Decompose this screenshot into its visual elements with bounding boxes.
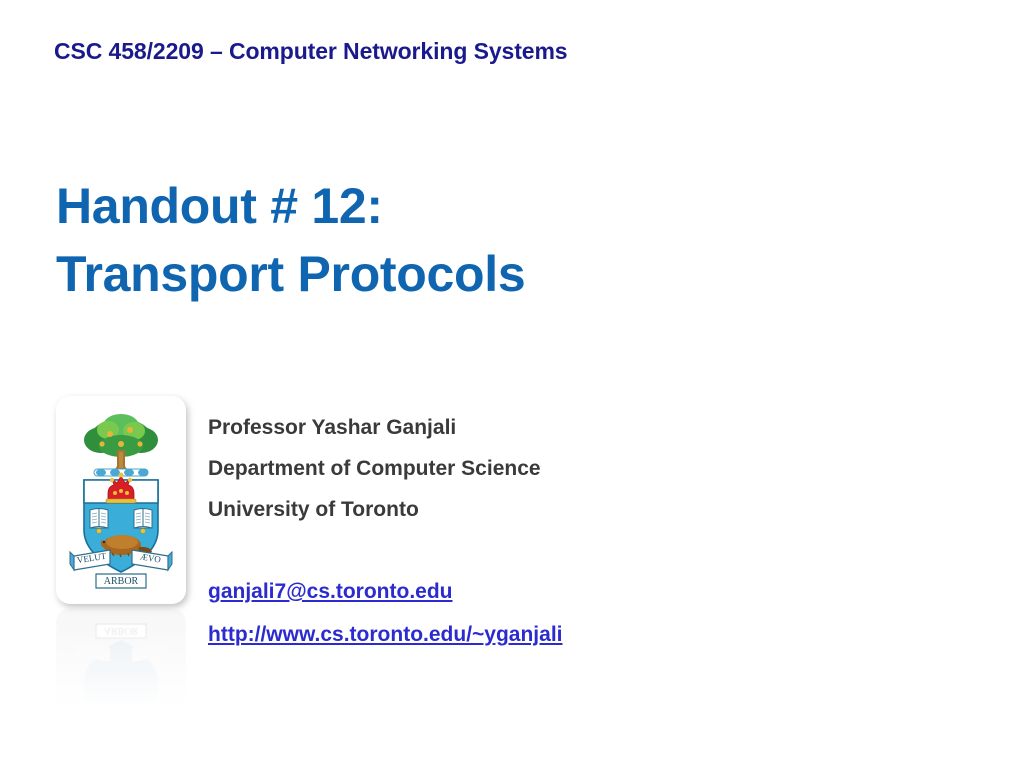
author-name: Professor Yashar Ganjali xyxy=(208,407,768,448)
author-contact-block: Professor Yashar Ganjali Department of C… xyxy=(208,407,768,657)
slide-canvas: CSC 458/2209 – Computer Networking Syste… xyxy=(0,0,1024,768)
homepage-row: http://www.cs.toronto.edu/~yganjali xyxy=(208,614,768,657)
tree-icon xyxy=(84,414,158,470)
crown-icon xyxy=(106,473,136,503)
logo-container: VELUT ÆVO ARBOR xyxy=(56,396,186,604)
motto-bottom-text: ARBOR xyxy=(104,576,139,587)
logo-reflection: ARBOR xyxy=(56,608,186,712)
page-title: Handout # 12: Transport Protocols xyxy=(56,172,676,308)
university-crest-icon: VELUT ÆVO ARBOR xyxy=(68,406,174,594)
author-institution: University of Toronto xyxy=(208,489,768,530)
email-link[interactable]: ganjali7@cs.toronto.edu xyxy=(208,571,453,612)
course-header: CSC 458/2209 – Computer Networking Syste… xyxy=(54,38,568,65)
title-line-1: Handout # 12: xyxy=(56,172,676,240)
homepage-link[interactable]: http://www.cs.toronto.edu/~yganjali xyxy=(208,614,563,655)
motto-bottom-reflection-text: ARBOR xyxy=(104,625,139,636)
university-crest-reflection-icon: ARBOR xyxy=(68,618,174,712)
email-row: ganjali7@cs.toronto.edu xyxy=(208,571,768,614)
title-line-2: Transport Protocols xyxy=(56,240,676,308)
author-department: Department of Computer Science xyxy=(208,448,768,489)
block-spacer xyxy=(208,530,768,571)
